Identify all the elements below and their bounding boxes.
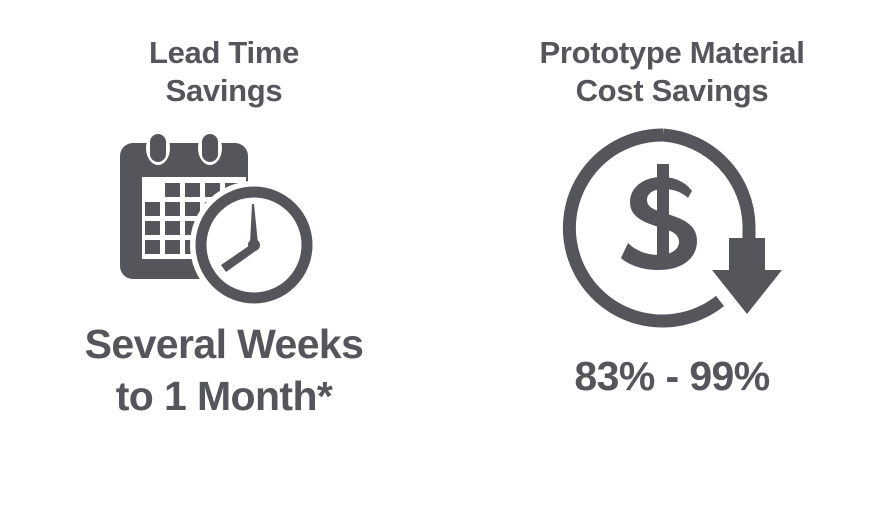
calendar-clock-icon [117,129,332,304]
savings-infographic: Lead Time Savings [0,0,896,515]
panel-lead-time-savings: Lead Time Savings [0,0,448,515]
panel-value-cost-savings: 83% - 99% [574,350,769,402]
panel-value-lead-time: Several Weeks to 1 Month* [85,318,364,422]
icon-wrap-cost-savings [542,128,802,328]
dollar-circle-down-arrow-icon [560,128,785,328]
icon-wrap-lead-time [104,126,344,306]
panel-prototype-material-cost-savings: Prototype Material Cost Savings 83% - 99 [448,0,896,515]
panel-heading-lead-time: Lead Time Savings [74,34,374,110]
panel-heading-cost-savings: Prototype Material Cost Savings [472,34,872,110]
